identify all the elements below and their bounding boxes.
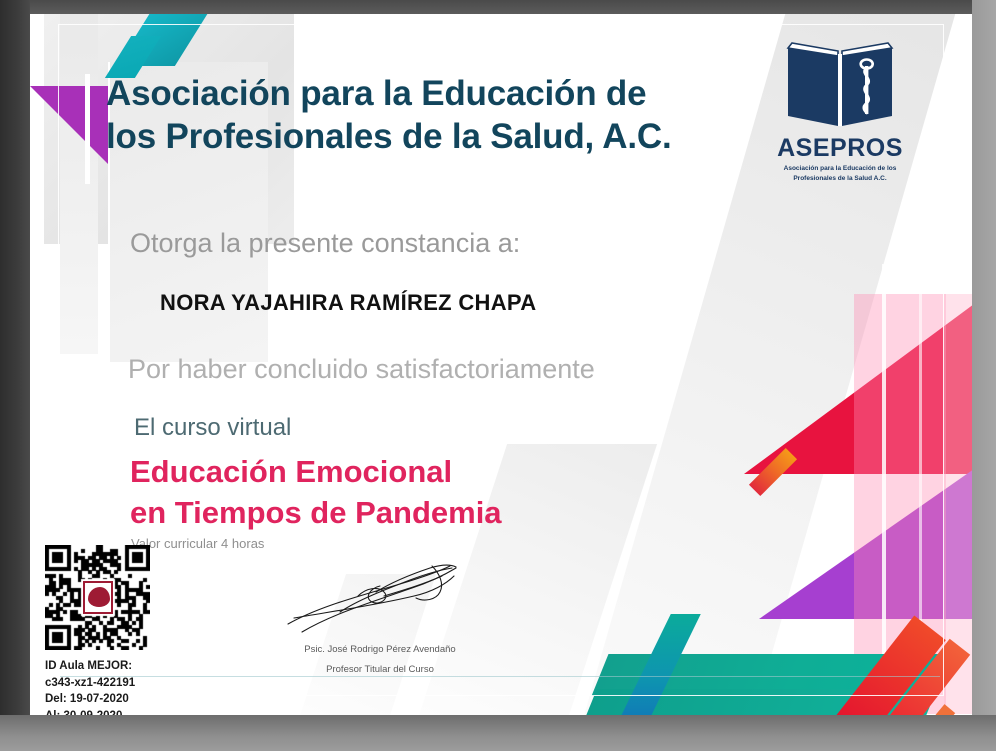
qr-date-from: Del: 19-07-2020 <box>45 691 225 708</box>
completion-line: Por haber concluido satisfactoriamente <box>128 354 595 385</box>
frame-border-bottom <box>0 715 996 751</box>
frame-border-top <box>0 0 996 14</box>
organization-title-line2: los Profesionales de la Salud, A.C. <box>106 115 726 158</box>
course-title-line2: en Tiempos de Pandemia <box>130 493 600 534</box>
organization-title-line1: Asociación para la Educación de <box>106 72 726 115</box>
signature-block: Psic. José Rodrigo Pérez Avendaño Profes… <box>250 562 510 675</box>
frame-border-left <box>0 0 30 751</box>
red-seal-icon <box>83 581 113 614</box>
logo-wordmark: ASEPROS <box>770 136 910 161</box>
organization-title: Asociación para la Educación de los Prof… <box>106 72 726 159</box>
open-book-caduceus-icon <box>780 42 900 134</box>
qr-id-value: c343-xz1-422191 <box>45 675 225 692</box>
qr-date-to: Al: 30-09-2020 <box>45 708 225 715</box>
course-title-line1: Educación Emocional <box>130 452 600 493</box>
certificate-document: Asociación para la Educación de los Prof… <box>0 0 996 751</box>
grant-line: Otorga la presente constancia a: <box>130 228 520 259</box>
qr-metadata: ID Aula MEJOR: c343-xz1-422191 Del: 19-0… <box>45 658 225 715</box>
logo-tagline: Asociación para la Educación de los Prof… <box>770 164 910 184</box>
handwritten-signature-icon <box>280 562 480 642</box>
frame-border-right <box>972 0 996 751</box>
recipient-name: NORA YAJAHIRA RAMÍREZ CHAPA <box>160 290 536 316</box>
qr-id-label: ID Aula MEJOR: <box>45 658 225 675</box>
logo-tagline-line1: Asociación para la Educación de los <box>770 164 910 174</box>
course-title: Educación Emocional en Tiempos de Pandem… <box>130 452 600 534</box>
signer-name: Psic. José Rodrigo Pérez Avendaño <box>250 644 510 655</box>
course-kind-label: El curso virtual <box>134 414 291 442</box>
qr-verification-block: ID Aula MEJOR: c343-xz1-422191 Del: 19-0… <box>45 545 225 715</box>
signer-role: Profesor Titular del Curso <box>250 664 510 675</box>
logo-tagline-line2: Profesionales de la Salud A.C. <box>770 174 910 184</box>
asepros-logo: ASEPROS Asociación para la Educación de … <box>770 42 910 184</box>
certificate-paper: Asociación para la Educación de los Prof… <box>30 14 972 715</box>
